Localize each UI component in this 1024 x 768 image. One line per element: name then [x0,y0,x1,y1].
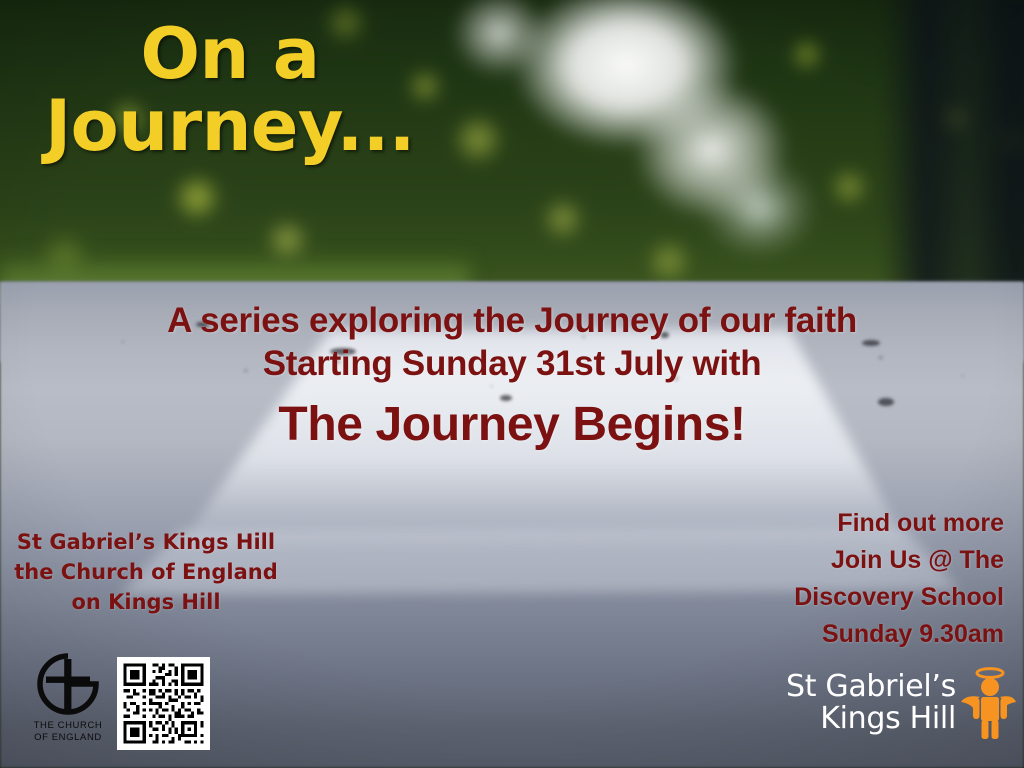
poster-canvas: On a Journey... A series exploring the J… [0,0,1024,768]
qr-code-matrix [117,657,210,750]
church-identity-block: St Gabriel’s Kings Hill the Church of En… [0,528,292,617]
series-description-line: A series exploring the Journey of our fa… [0,300,1024,343]
text-layer: On a Journey... A series exploring the J… [0,0,1024,768]
angel-icon [960,666,1016,740]
church-of-england-logo: THE CHURCH OF ENGLAND [22,652,114,744]
service-info-block: Find out more Join Us @ The Discovery Sc… [664,505,1004,653]
qr-code-icon[interactable] [117,657,210,750]
church-of-england-caption: THE CHURCH OF ENGLAND [22,720,114,744]
poster-body-block: A series exploring the Journey of our fa… [0,300,1024,452]
st-gabriels-wordmark: St Gabriel’s Kings Hill [786,671,956,735]
series-title-highlight: The Journey Begins! [0,399,1024,452]
st-gabriels-logo: St Gabriel’s Kings Hill [786,666,1016,740]
poster-headline: On a Journey... [0,18,460,162]
start-date-line: Starting Sunday 31st July with [0,343,1024,386]
church-of-england-cross-icon [32,652,104,718]
